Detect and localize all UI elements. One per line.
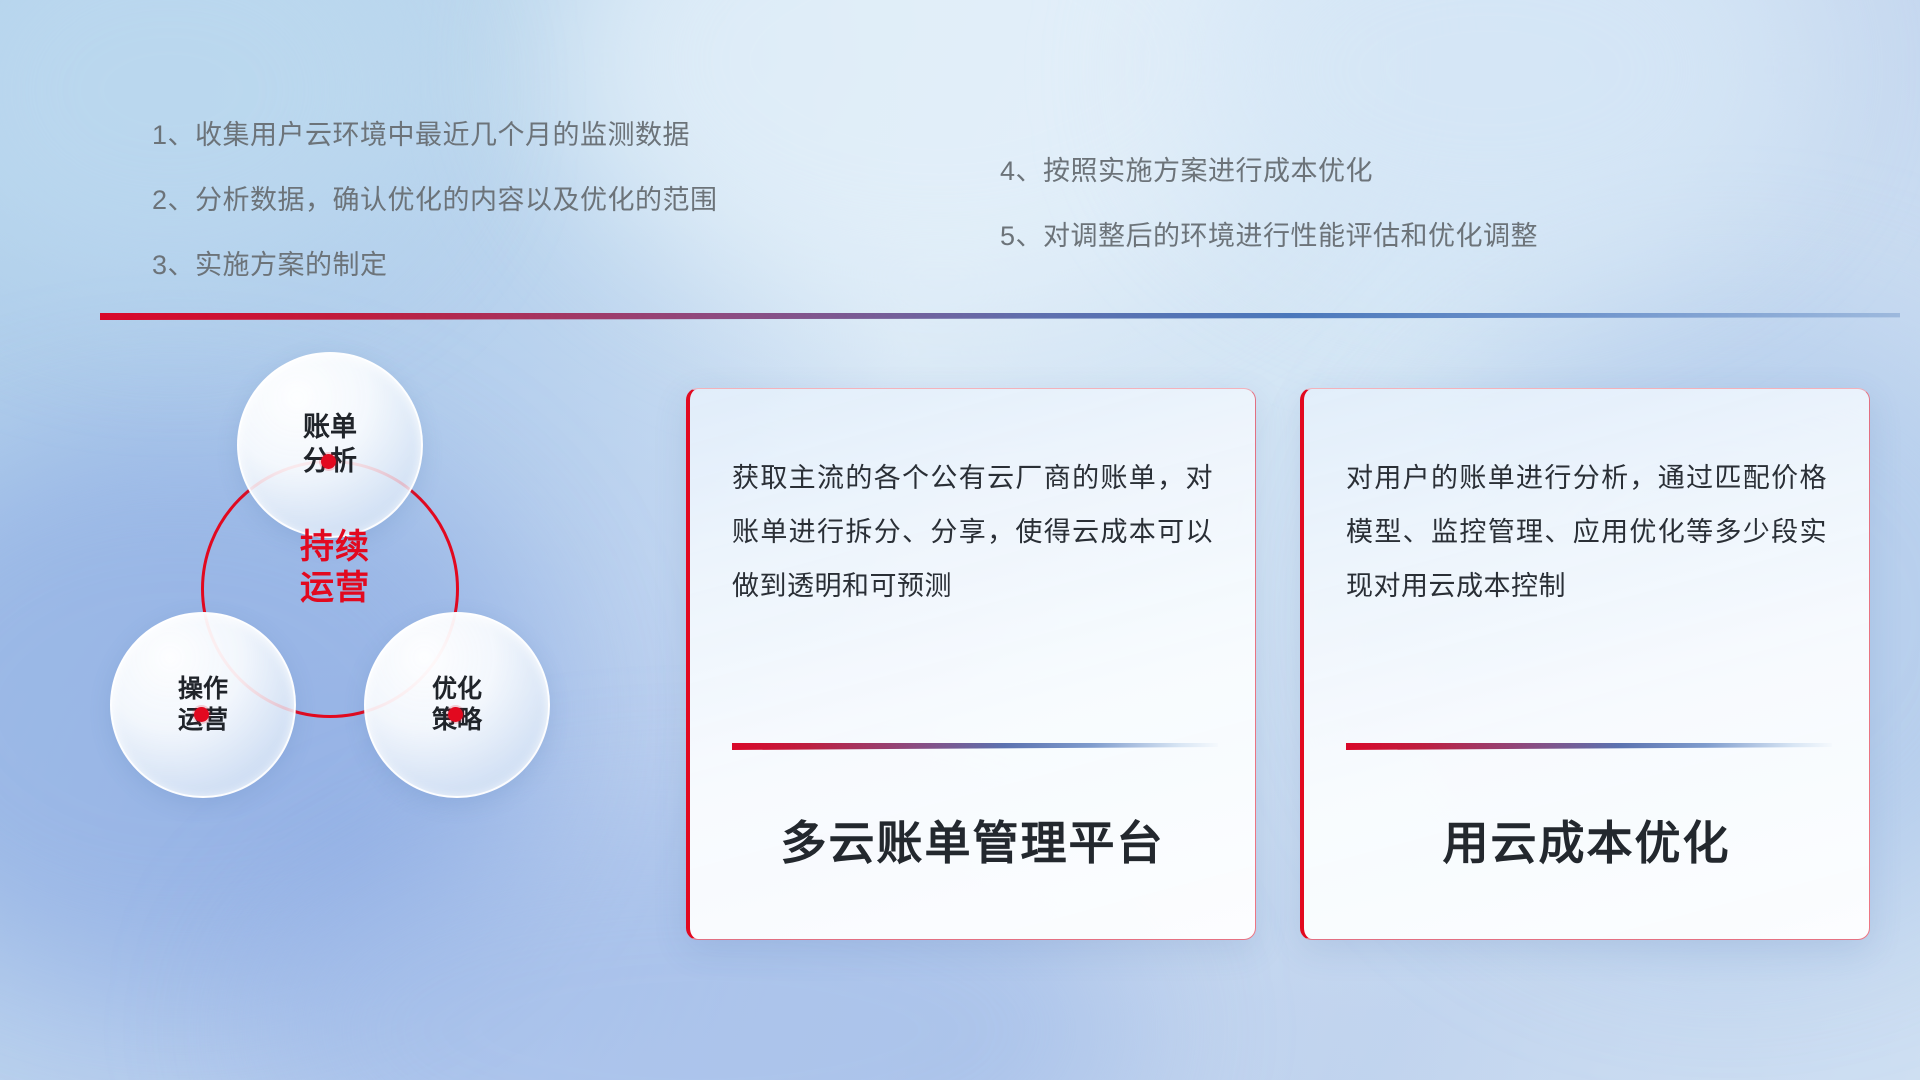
venn-lobe-label: 操作 运营 [178, 674, 228, 737]
bullet-list-right: 4、按照实施方案进行成本优化 5、对调整后的环境进行性能评估和优化调整 [1000, 158, 1538, 288]
venn-center-label: 持续 运营 [260, 527, 410, 610]
card-title: 用云成本优化 [1346, 807, 1827, 873]
card-body-text: 对用户的账单进行分析，通过匹配价格模型、监控管理、应用优化等多少段实现对用云成本… [1346, 451, 1827, 613]
venn-lobe-optimization-strategy[interactable]: 优化 策略 [364, 612, 550, 798]
card-divider-rule [1346, 743, 1832, 750]
card-body-text: 获取主流的各个公有云厂商的账单，对账单进行拆分、分享，使得云成本可以做到透明和可… [732, 451, 1213, 613]
bullet-item-4: 4、按照实施方案进行成本优化 [1000, 158, 1538, 185]
venn-lobe-label: 优化 策略 [432, 674, 482, 737]
venn-lobe-operations[interactable]: 操作 运营 [110, 612, 296, 798]
bullet-item-5: 5、对调整后的环境进行性能评估和优化调整 [1000, 223, 1538, 250]
venn-diagram: 账单 分析 操作 运营 优化 策略 持续 运营 [96, 352, 596, 952]
venn-node-dot-bottom-left [194, 707, 209, 722]
venn-node-dot-bottom-right [448, 707, 463, 722]
venn-node-dot-top [321, 454, 336, 469]
card-title: 多云账单管理平台 [732, 807, 1213, 873]
bullet-item-3: 3、实施方案的制定 [152, 252, 718, 279]
bullet-item-2: 2、分析数据，确认优化的内容以及优化的范围 [152, 187, 718, 214]
bullet-list-left: 1、收集用户云环境中最近几个月的监测数据 2、分析数据，确认优化的内容以及优化的… [152, 122, 718, 317]
section-divider-rule [100, 313, 1900, 320]
feature-card-cost-optimization[interactable]: 对用户的账单进行分析，通过匹配价格模型、监控管理、应用优化等多少段实现对用云成本… [1300, 388, 1870, 940]
slide-canvas: 1、收集用户云环境中最近几个月的监测数据 2、分析数据，确认优化的内容以及优化的… [0, 0, 1920, 1080]
venn-lobe-bill-analysis[interactable]: 账单 分析 [237, 352, 423, 538]
card-divider-rule [732, 743, 1218, 750]
bullet-item-1: 1、收集用户云环境中最近几个月的监测数据 [152, 122, 718, 149]
feature-card-multicloud-billing[interactable]: 获取主流的各个公有云厂商的账单，对账单进行拆分、分享，使得云成本可以做到透明和可… [686, 388, 1256, 940]
